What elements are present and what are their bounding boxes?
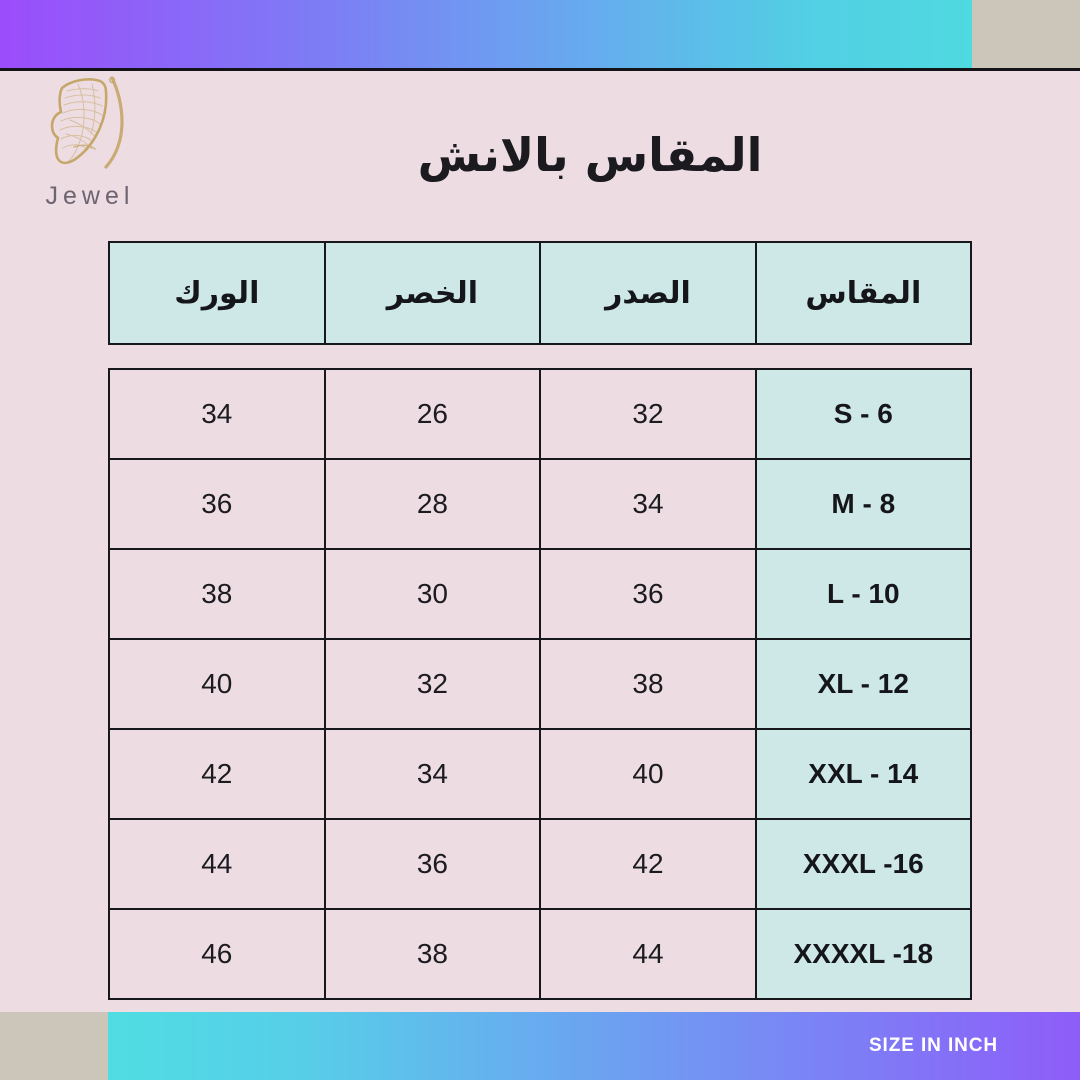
table-row: S - 6 32 26 34 (109, 369, 971, 459)
cell-size: M - 8 (756, 459, 971, 549)
column-header-size: المقاس (756, 242, 971, 344)
page-title: المقاس بالانش (190, 128, 990, 182)
size-table-body: S - 6 32 26 34 M - 8 34 28 36 L - 10 36 … (108, 368, 972, 1000)
cell-size: S - 6 (756, 369, 971, 459)
cell-waist: 28 (325, 459, 541, 549)
backdrop-corner-top-right (972, 0, 1080, 70)
cell-chest: 42 (540, 819, 756, 909)
cell-hip: 42 (109, 729, 325, 819)
size-chart-canvas: Jewel المقاس بالانش المقاس الصدر الخصر ا… (0, 0, 1080, 1080)
column-header-chest: الصدر (540, 242, 756, 344)
cell-waist: 38 (325, 909, 541, 999)
cell-size: XXL - 14 (756, 729, 971, 819)
cell-hip: 34 (109, 369, 325, 459)
cell-hip: 40 (109, 639, 325, 729)
column-header-waist: الخصر (325, 242, 541, 344)
cell-chest: 34 (540, 459, 756, 549)
cell-chest: 38 (540, 639, 756, 729)
table-row: XXL - 14 40 34 42 (109, 729, 971, 819)
cell-waist: 36 (325, 819, 541, 909)
table-row: M - 8 34 28 36 (109, 459, 971, 549)
table-row: XXXL -16 42 36 44 (109, 819, 971, 909)
table-header-row: المقاس الصدر الخصر الورك (109, 242, 971, 344)
brand-logo: Jewel (30, 72, 150, 211)
bottom-gradient-banner: SIZE IN INCH (108, 1012, 1080, 1080)
cell-waist: 30 (325, 549, 541, 639)
cell-chest: 36 (540, 549, 756, 639)
cell-chest: 40 (540, 729, 756, 819)
table-row: XXXXL -18 44 38 46 (109, 909, 971, 999)
top-banner-rule (0, 68, 1080, 71)
cell-chest: 44 (540, 909, 756, 999)
table-row: L - 10 36 30 38 (109, 549, 971, 639)
cell-hip: 44 (109, 819, 325, 909)
butterfly-wing-icon (40, 72, 140, 180)
column-header-hip: الورك (109, 242, 325, 344)
cell-waist: 26 (325, 369, 541, 459)
cell-waist: 34 (325, 729, 541, 819)
cell-chest: 32 (540, 369, 756, 459)
brand-name: Jewel (30, 182, 150, 211)
cell-hip: 38 (109, 549, 325, 639)
top-gradient-banner (0, 0, 972, 68)
cell-size: XXXXL -18 (756, 909, 971, 999)
cell-size: XXXL -16 (756, 819, 971, 909)
cell-size: L - 10 (756, 549, 971, 639)
cell-size: XL - 12 (756, 639, 971, 729)
cell-waist: 32 (325, 639, 541, 729)
size-table-header: المقاس الصدر الخصر الورك (108, 241, 972, 345)
cell-hip: 46 (109, 909, 325, 999)
size-unit-label: SIZE IN INCH (869, 1035, 1080, 1057)
backdrop-corner-bottom-left (0, 1012, 108, 1080)
table-row: XL - 12 38 32 40 (109, 639, 971, 729)
cell-hip: 36 (109, 459, 325, 549)
